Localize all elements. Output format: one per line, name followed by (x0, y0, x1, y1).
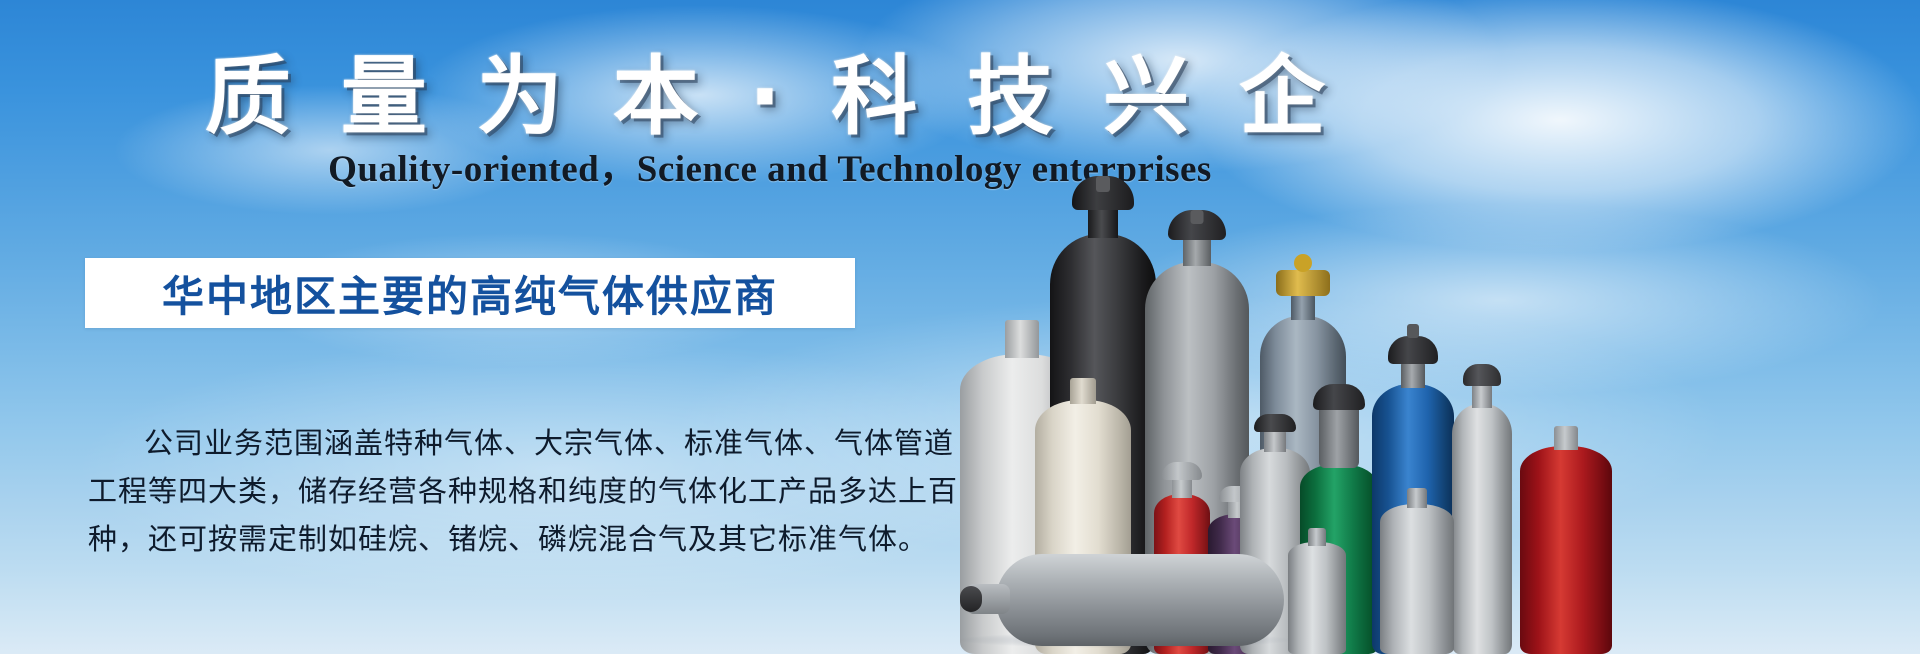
cylinder-neck (1472, 384, 1492, 408)
paragraph-line-1: 公司业务范围涵盖特种气体、大宗气体、标准气体、气体管道 (88, 420, 858, 468)
cylinder-valve (960, 586, 982, 612)
promotional-banner: 质 量 为 本 · 科 技 兴 企 Quality-oriented，Scien… (0, 0, 1920, 654)
paragraph-line-2: 工程等四大类，储存经营各种规格和纯度的气体化工产品多达上百 (88, 468, 858, 516)
cylinder-body (1288, 542, 1346, 654)
cylinder-neck (1183, 236, 1211, 266)
lying-grey-cylinder (960, 554, 1290, 646)
cylinder-cap (1463, 364, 1501, 386)
cylinder-neck (1554, 426, 1578, 450)
aluminium-short-cylinder (1380, 484, 1454, 654)
cylinder-neck (1291, 294, 1315, 320)
slogan-box: 华中地区主要的高纯气体供应商 (85, 258, 855, 328)
cylinder-valve (1407, 324, 1419, 338)
cylinder-cap (1388, 336, 1438, 364)
cylinder-body (1380, 504, 1454, 654)
paragraph-line-3: 种，还可按需定制如硅烷、锗烷、磷烷混合气及其它标准气体。 (88, 516, 858, 564)
description-paragraph: 公司业务范围涵盖特种气体、大宗气体、标准气体、气体管道 工程等四大类，储存经营各… (88, 420, 858, 564)
cylinder-body (1520, 446, 1612, 654)
cylinder-neck (1070, 378, 1096, 404)
cylinder-neck (1308, 528, 1326, 546)
aluminium-mini-cylinder (1288, 524, 1346, 654)
cylinder-body (1452, 404, 1512, 654)
cylinder-neck (1264, 430, 1286, 452)
cylinder-neck (1005, 320, 1039, 358)
cylinder-neck (1088, 206, 1118, 238)
dark-red-cylinder (1520, 414, 1612, 654)
cylinder-neck (1401, 362, 1425, 388)
cylinder-valve-assembly (1276, 270, 1330, 296)
cylinder-cap (1313, 384, 1365, 410)
cylinder-body (996, 554, 1284, 646)
gas-cylinder-group (940, 0, 1920, 654)
cylinder-valve (1191, 210, 1204, 224)
slogan-text: 华中地区主要的高纯气体供应商 (162, 263, 778, 324)
cylinder-cap (1254, 414, 1296, 432)
cylinder-valve (1096, 176, 1110, 192)
cylinder-handwheel (1294, 254, 1312, 272)
cylinder-neck (1407, 488, 1427, 508)
cylinder-cap (1162, 462, 1202, 480)
aluminium-slim-cylinder (1452, 354, 1512, 654)
